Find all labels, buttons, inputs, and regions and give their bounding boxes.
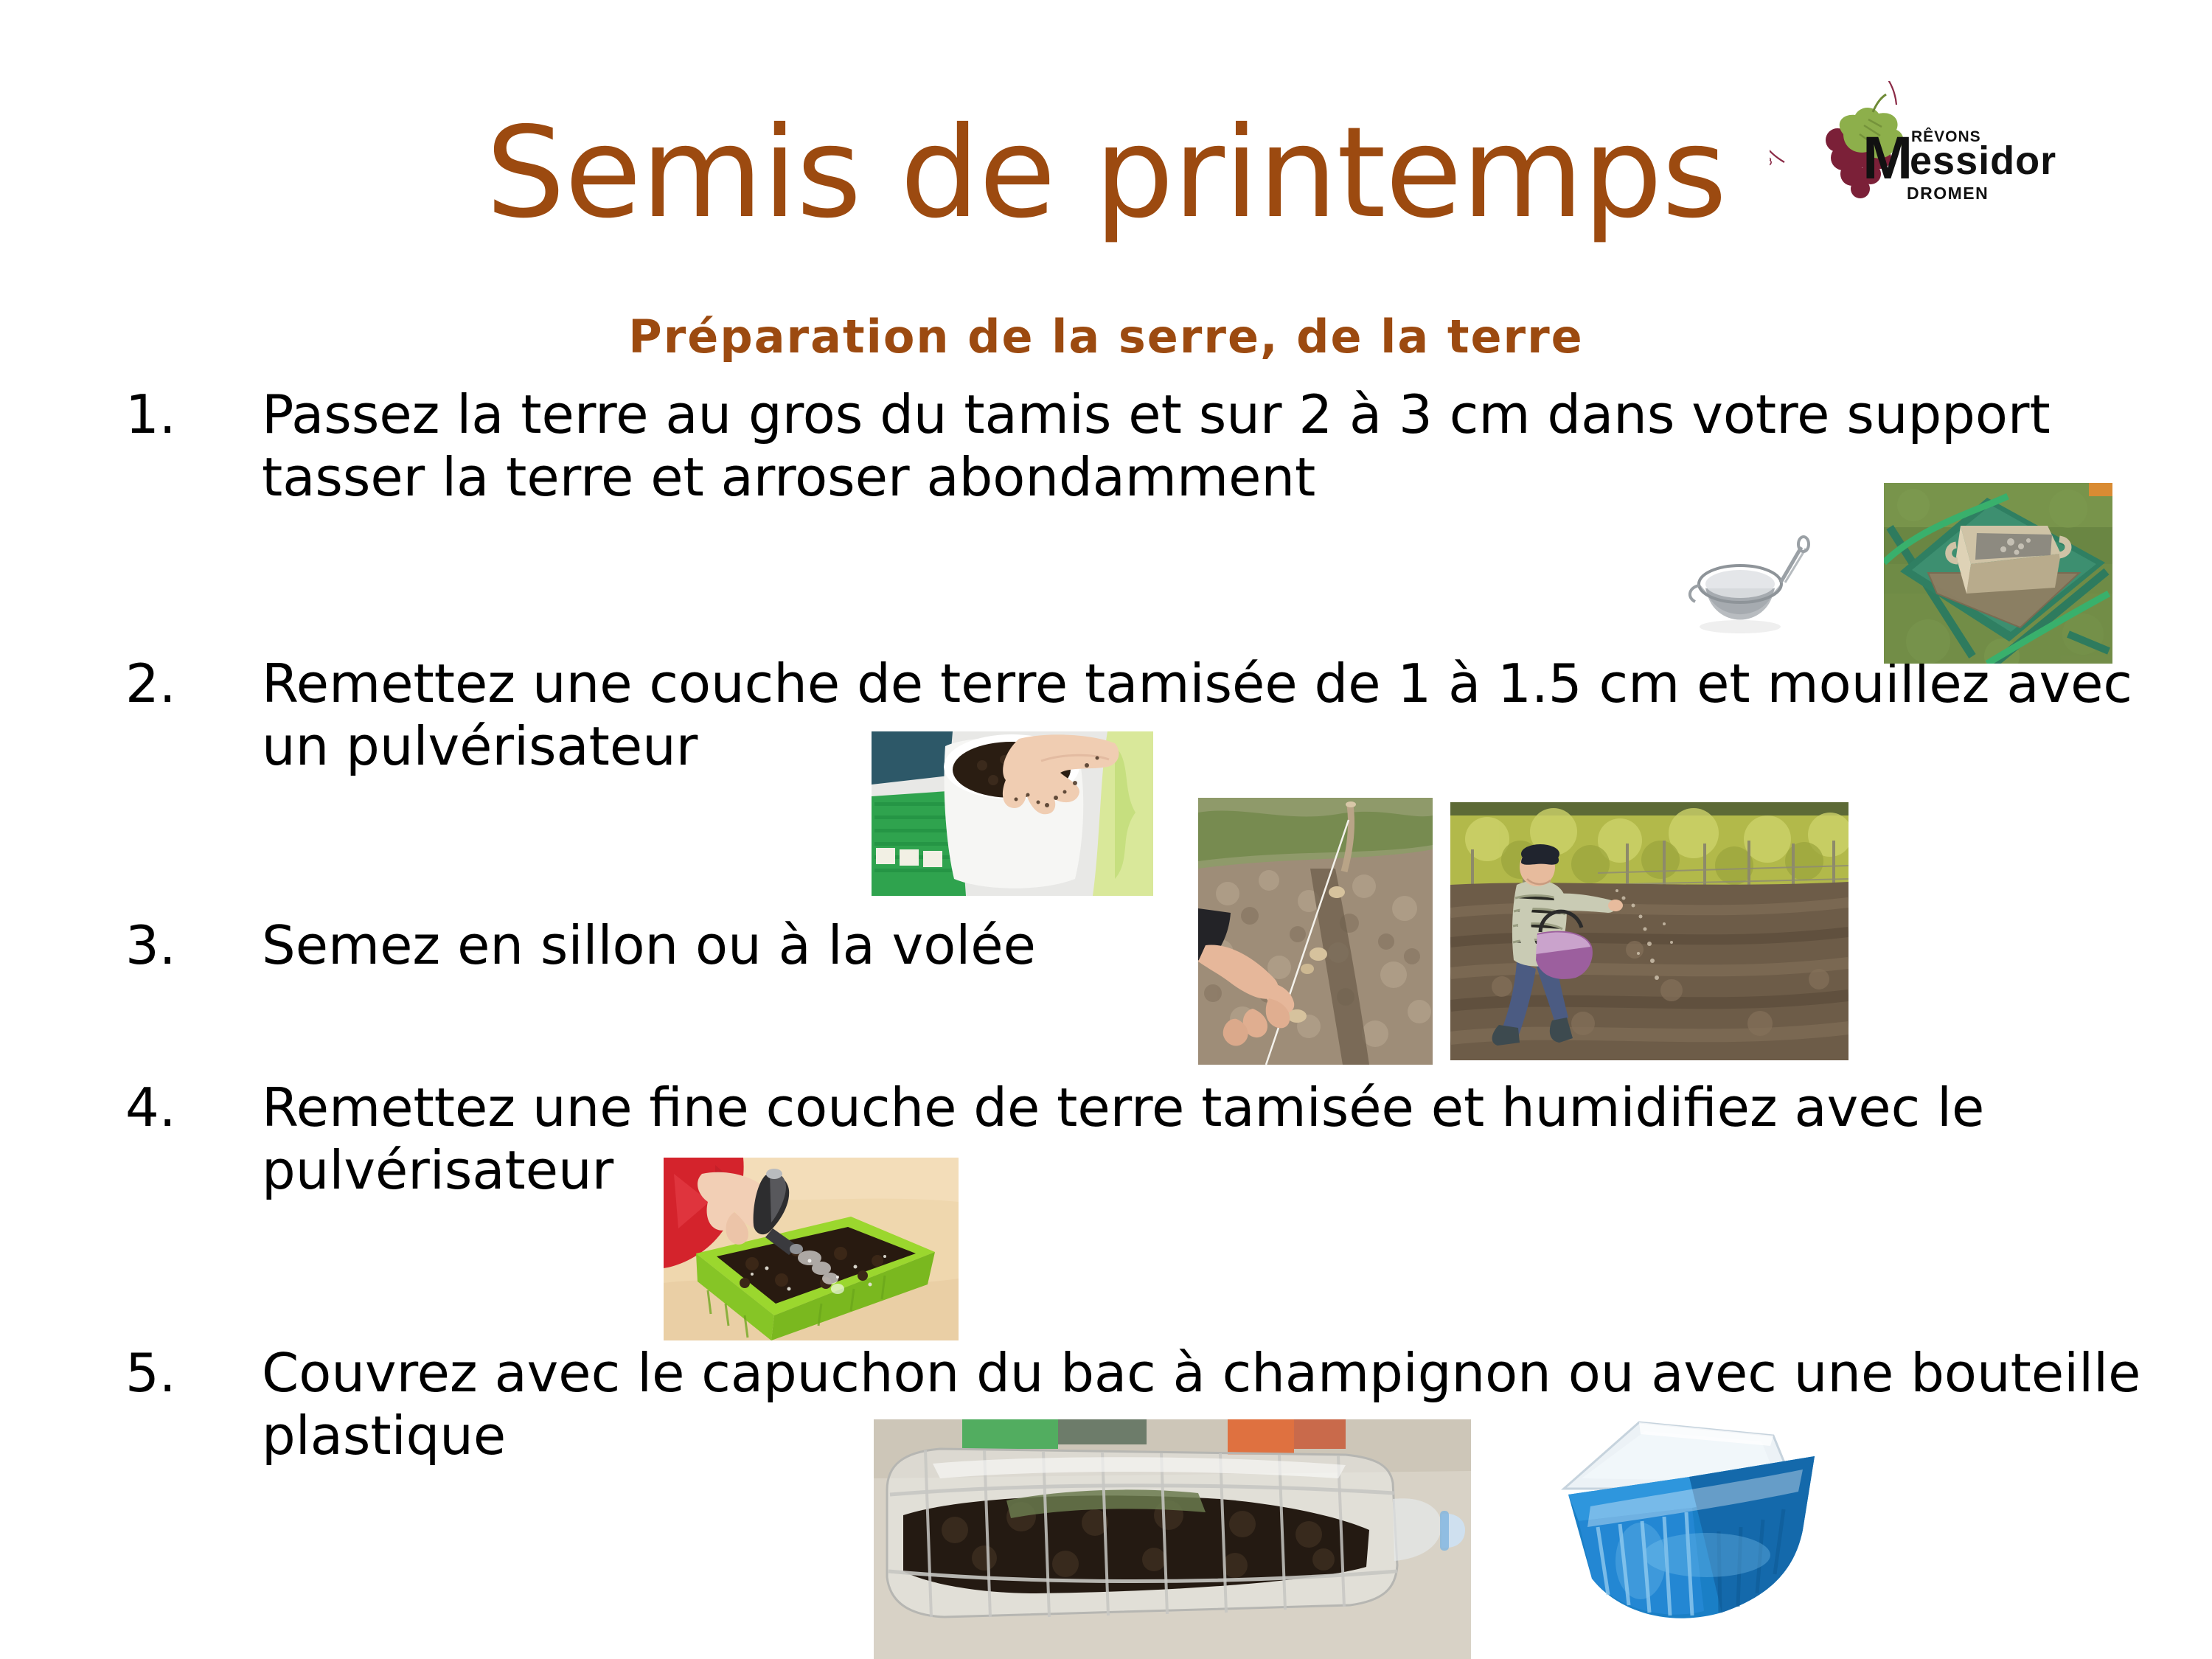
list-item: 1. Passez la terre au gros du tamis et s… xyxy=(125,383,2175,509)
list-item-number: 1. xyxy=(125,383,236,446)
mushroom-tray-photo xyxy=(1552,1397,1832,1633)
logo-tagline-top: RÊVONS xyxy=(1911,128,1981,145)
list-item: 4. Remettez une fine couche de terre tam… xyxy=(125,1077,2175,1202)
list-item-number: 5. xyxy=(125,1342,236,1405)
list-item-number: 3. xyxy=(125,914,236,977)
logo-brand: essidor xyxy=(1910,139,2056,183)
list-item-text: Remettez une fine couche de terre tamisé… xyxy=(262,1077,2175,1202)
broadcast-sowing-photo xyxy=(1450,802,1848,1060)
hand-pressing-soil-photo xyxy=(872,731,1153,896)
list-item: 3. Semez en sillon ou à la volée xyxy=(125,914,2175,977)
messidor-logo: QUARTIER DURABLE - DUURZAME WIJK xyxy=(1770,81,2124,221)
slide-canvas: Semis de printemps Préparation de la ser… xyxy=(0,0,2212,1659)
list-item-text: Remettez une couche de terre tamisée de … xyxy=(262,653,2175,778)
page-subtitle: Préparation de la serre, de la terre xyxy=(0,310,2212,364)
plastic-bottle-cloche-photo xyxy=(874,1419,1471,1659)
logo-tagline-bottom: DROMEN xyxy=(1907,184,1989,203)
sowing-in-furrow-photo xyxy=(1198,798,1433,1065)
list-item-number: 2. xyxy=(125,653,236,715)
kitchen-sieve-photo xyxy=(1670,516,1818,649)
logo-brand-initial: M xyxy=(1863,125,1913,192)
list-item-number: 4. xyxy=(125,1077,236,1139)
wheelbarrow-sieve-photo xyxy=(1884,483,2112,664)
spraying-seed-tray-photo xyxy=(664,1158,959,1340)
